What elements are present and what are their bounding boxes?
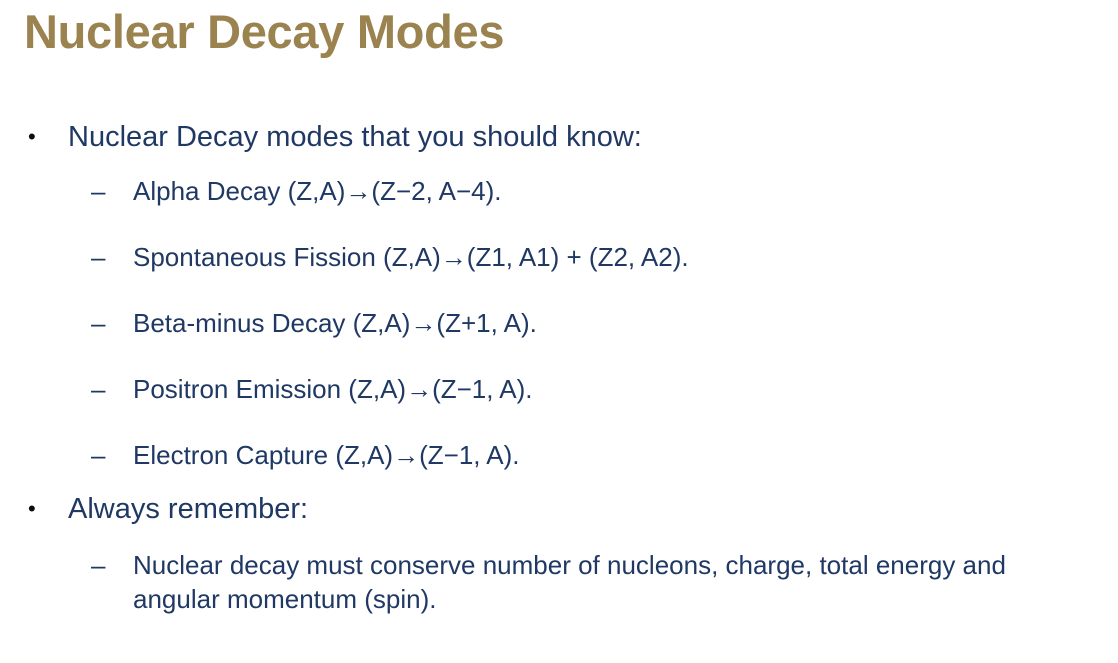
bullet-level1-decay-modes: • Nuclear Decay modes that you should kn… <box>0 118 1118 156</box>
spacer <box>0 406 1118 438</box>
dash-icon: – <box>91 240 119 274</box>
spacer <box>0 274 1118 306</box>
bullet-level2-spontaneous-fission: – Spontaneous Fission (Z,A)→(Z1, A1) + (… <box>0 240 1118 274</box>
bullet-dot-icon: • <box>28 490 52 528</box>
bullet-level1-label: Always remember: <box>68 490 1118 528</box>
bullet-level2-label: Alpha Decay (Z,A)→(Z−2, A−4). <box>133 174 1118 208</box>
bullet-level2-label: Beta-minus Decay (Z,A)→(Z+1, A). <box>133 306 1118 340</box>
bullet-level2-alpha-decay: – Alpha Decay (Z,A)→(Z−2, A−4). <box>0 174 1118 208</box>
bullet-level2-conservation-rule: – Nuclear decay must conserve number of … <box>0 548 1118 616</box>
bullet-level2-beta-minus-decay: – Beta-minus Decay (Z,A)→(Z+1, A). <box>0 306 1118 340</box>
bullet-level2-label: Positron Emission (Z,A)→(Z−1, A). <box>133 372 1118 406</box>
bullet-level2-label: Nuclear decay must conserve number of nu… <box>133 548 1093 616</box>
dash-icon: – <box>91 372 119 406</box>
dash-icon: – <box>91 438 119 472</box>
bullet-level2-label: Electron Capture (Z,A)→(Z−1, A). <box>133 438 1118 472</box>
spacer <box>0 528 1118 548</box>
dash-icon: – <box>91 174 119 208</box>
slide-body: • Nuclear Decay modes that you should kn… <box>0 118 1118 616</box>
bullet-level2-electron-capture: – Electron Capture (Z,A)→(Z−1, A). <box>0 438 1118 472</box>
spacer <box>0 472 1118 490</box>
bullet-level1-always-remember: • Always remember: <box>0 490 1118 528</box>
dash-icon: – <box>91 548 119 582</box>
bullet-level2-positron-emission: – Positron Emission (Z,A)→(Z−1, A). <box>0 372 1118 406</box>
slide: Nuclear Decay Modes • Nuclear Decay mode… <box>0 0 1118 663</box>
spacer <box>0 340 1118 372</box>
spacer <box>0 208 1118 240</box>
bullet-level2-label: Spontaneous Fission (Z,A)→(Z1, A1) + (Z2… <box>133 240 1118 274</box>
spacer <box>0 156 1118 174</box>
bullet-level1-label: Nuclear Decay modes that you should know… <box>68 118 1118 156</box>
bullet-dot-icon: • <box>28 118 52 156</box>
dash-icon: – <box>91 306 119 340</box>
slide-title: Nuclear Decay Modes <box>24 2 504 62</box>
